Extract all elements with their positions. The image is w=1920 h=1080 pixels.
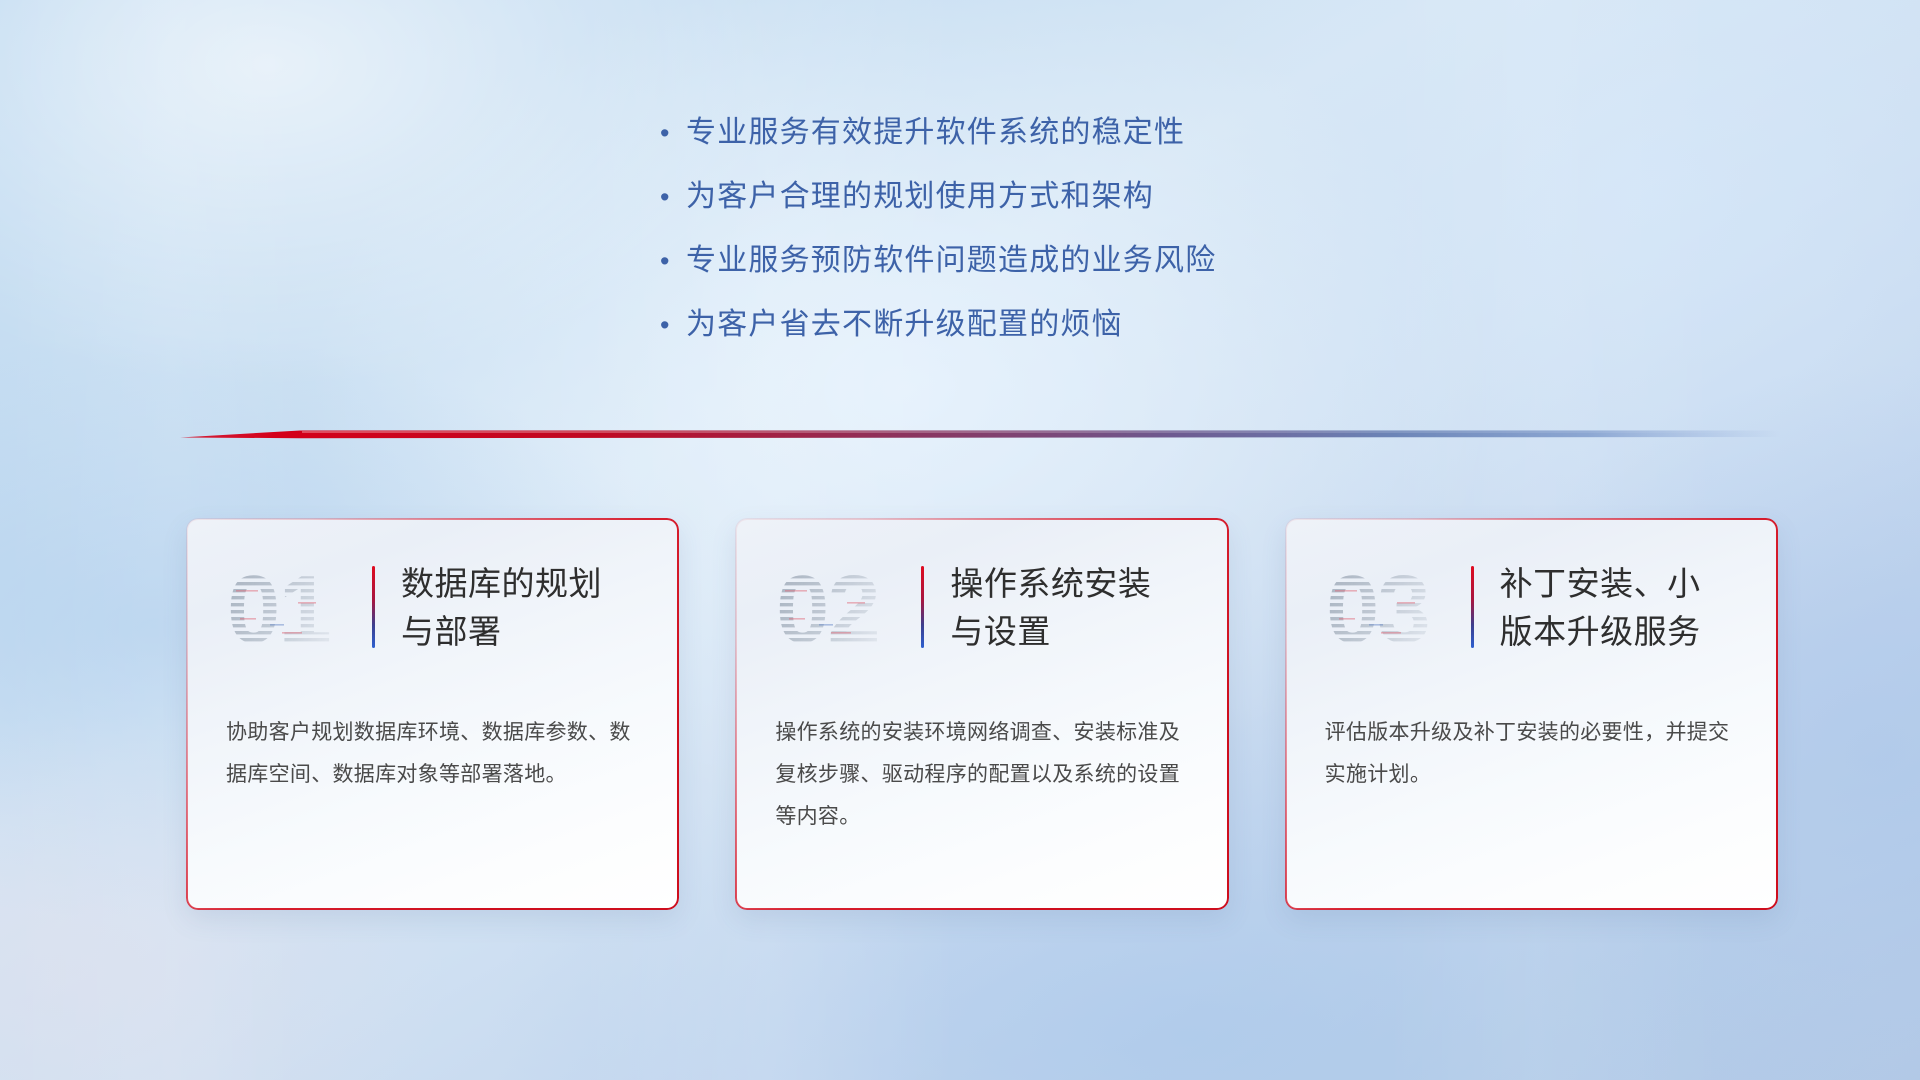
bullet-text: 专业服务预防软件问题造成的业务风险	[686, 241, 1420, 281]
section-divider	[180, 420, 1780, 446]
service-card-row: 01 数据库的规划	[186, 518, 1778, 910]
card-title-rule	[1471, 566, 1474, 648]
card-number-text: 01	[227, 556, 330, 663]
service-card[interactable]: 03 补丁安装、小	[1285, 518, 1778, 910]
bullet-text: 为客户合理的规划使用方式和架构	[686, 177, 1420, 217]
card-title-line-1: 补丁安装、小	[1500, 560, 1738, 608]
service-card[interactable]: 01 数据库的规划	[186, 518, 679, 910]
slide-canvas: • 专业服务有效提升软件系统的稳定性 • 为客户合理的规划使用方式和架构 • 专…	[0, 0, 1920, 1080]
card-title-line-2: 版本升级服务	[1500, 608, 1738, 656]
card-title-line-1: 操作系统安装	[950, 560, 1188, 608]
list-item: • 专业服务预防软件问题造成的业务风险	[660, 241, 1420, 305]
bullet-dot-icon: •	[660, 305, 686, 345]
bullet-text: 专业服务有效提升软件系统的稳定性	[686, 113, 1420, 153]
card-description: 评估版本升级及补丁安装的必要性，并提交实施计划。	[1325, 712, 1738, 796]
card-number-text: 02	[776, 556, 879, 663]
card-title: 补丁安装、小 版本升级服务	[1500, 552, 1738, 656]
bullet-dot-icon: •	[660, 177, 686, 217]
card-title-line-2: 与设置	[950, 608, 1188, 656]
card-header: 01 数据库的规划	[226, 552, 639, 684]
card-number-text: 03	[1326, 556, 1429, 663]
card-title-rule	[372, 566, 375, 648]
card-description: 操作系统的安装环境网络调查、安装标准及复核步骤、驱动程序的配置以及系统的设置等内…	[775, 712, 1188, 838]
bullet-dot-icon: •	[660, 113, 686, 153]
card-title: 操作系统安装 与设置	[950, 552, 1188, 656]
card-title-line-1: 数据库的规划	[401, 560, 639, 608]
bullet-dot-icon: •	[660, 241, 686, 281]
card-number-watermark: 02	[775, 554, 905, 666]
list-item: • 专业服务有效提升软件系统的稳定性	[660, 113, 1420, 177]
service-card[interactable]: 02 操作系统安装	[735, 518, 1228, 910]
benefit-bullet-list: • 专业服务有效提升软件系统的稳定性 • 为客户合理的规划使用方式和架构 • 专…	[660, 113, 1420, 369]
list-item: • 为客户合理的规划使用方式和架构	[660, 177, 1420, 241]
card-title-rule	[921, 566, 924, 648]
card-title-line-2: 与部署	[401, 608, 639, 656]
card-number-watermark: 03	[1325, 554, 1455, 666]
bullet-text: 为客户省去不断升级配置的烦恼	[686, 305, 1420, 345]
card-number-watermark: 01	[226, 554, 356, 666]
list-item: • 为客户省去不断升级配置的烦恼	[660, 305, 1420, 369]
card-header: 03 补丁安装、小	[1325, 552, 1738, 684]
card-header: 02 操作系统安装	[775, 552, 1188, 684]
card-description: 协助客户规划数据库环境、数据库参数、数据库空间、数据库对象等部署落地。	[226, 712, 639, 796]
card-title: 数据库的规划 与部署	[401, 552, 639, 656]
